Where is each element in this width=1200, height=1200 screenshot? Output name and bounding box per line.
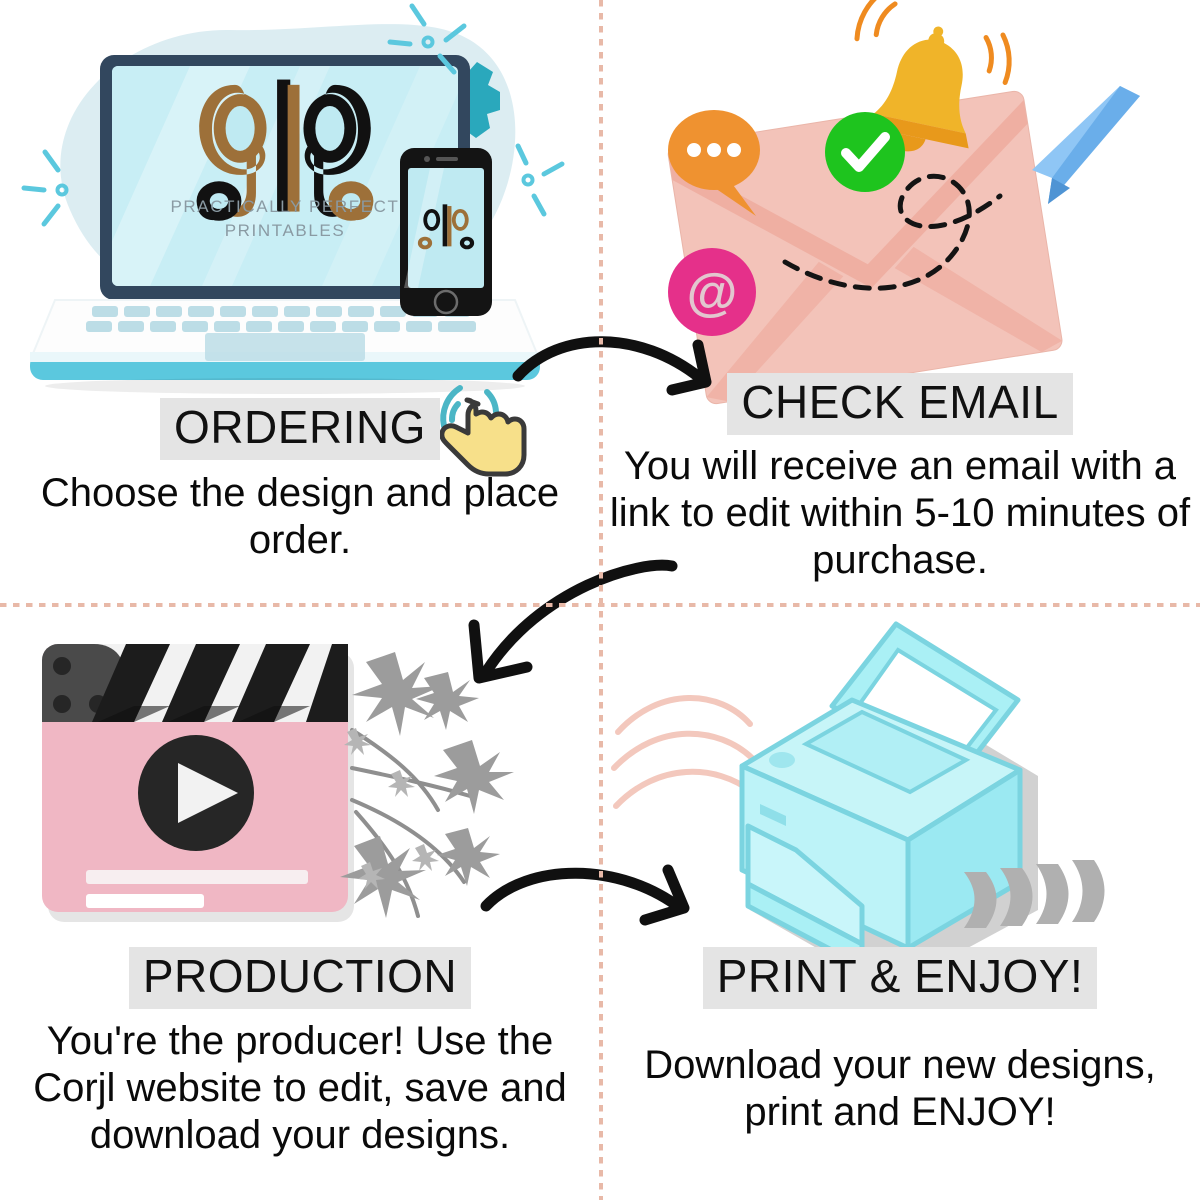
- step-label-print-enjoy: PRINT & ENJOY!: [703, 947, 1098, 1009]
- check-circle-icon: [825, 112, 905, 192]
- step-body-print-enjoy: Download your new designs, print and ENJ…: [600, 1042, 1200, 1136]
- infographic-page: PRACTICALLY PERFECT PRINTABLES: [0, 0, 1200, 1200]
- step-body-check-email: You will receive an email with a link to…: [600, 443, 1200, 585]
- step-label-wrap-check-email: CHECK EMAIL: [600, 373, 1200, 435]
- step-label-check-email: CHECK EMAIL: [727, 373, 1072, 435]
- dashed-path: [785, 176, 1000, 288]
- step-label-wrap-ordering: ORDERING: [0, 398, 600, 460]
- brand-logo-line1: PRACTICALLY PERFECT: [170, 197, 399, 216]
- step-body-ordering: Choose the design and place order.: [0, 470, 600, 564]
- sparkle-icon: [24, 152, 67, 224]
- brand-monogram: [197, 80, 374, 221]
- step-label-ordering: ORDERING: [160, 398, 440, 460]
- motion-chevrons-gray: [964, 860, 1105, 928]
- sparkle-burst-icon: [340, 652, 514, 918]
- step-label-wrap-print-enjoy: PRINT & ENJOY!: [600, 947, 1200, 1009]
- step-card-print-enjoy: PRINT & ENJOY! Download your new designs…: [600, 600, 1200, 1200]
- motion-lines-pink: [614, 698, 752, 806]
- bell-icon: [835, 0, 1019, 169]
- at-sign-icon: @: [668, 248, 756, 336]
- divider-horizontal: [0, 603, 1200, 607]
- svg-text:@: @: [687, 264, 738, 322]
- step-label-wrap-production: PRODUCTION: [0, 947, 600, 1009]
- step-label-production: PRODUCTION: [129, 947, 471, 1009]
- step-body-production: You're the producer! Use the Corjl websi…: [0, 1018, 600, 1160]
- step-card-ordering: PRACTICALLY PERFECT PRINTABLES: [0, 0, 600, 600]
- play-button-icon: [138, 735, 254, 851]
- divider-vertical: [599, 0, 603, 1200]
- step-card-production: PRODUCTION You're the producer! Use the …: [0, 600, 600, 1200]
- paper-plane-icon: [1032, 86, 1140, 204]
- brand-logo-line2: PRINTABLES: [225, 221, 346, 240]
- chat-bubble-icon: [668, 110, 760, 216]
- step-card-check-email: @ CHECK EMAIL You will receive an email …: [600, 0, 1200, 600]
